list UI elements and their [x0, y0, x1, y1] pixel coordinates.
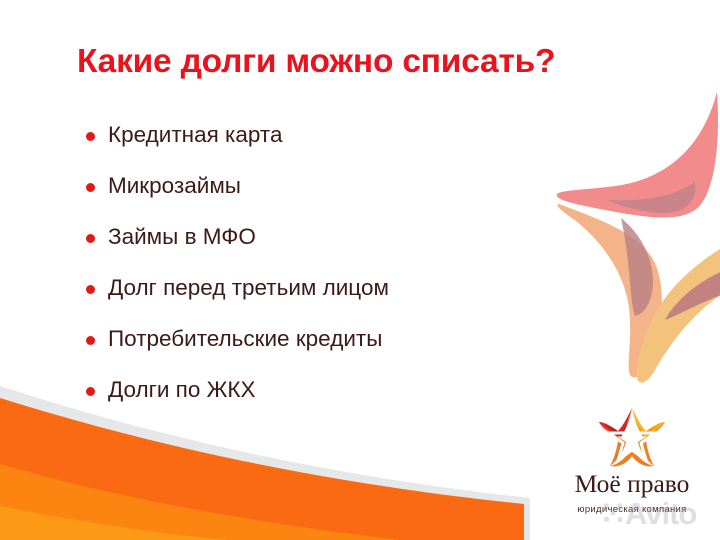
- petal-amber: [637, 246, 720, 383]
- bullet-dot-icon: [86, 336, 95, 345]
- list-item: Кредитная карта: [86, 110, 389, 161]
- wave-orange-mid: [0, 464, 400, 540]
- bullet-dot-icon: [86, 183, 95, 192]
- list-item: Долг перед третьим лицом: [86, 263, 389, 314]
- list-item: Микрозаймы: [86, 161, 389, 212]
- petal-peach-shadow: [621, 218, 653, 316]
- list-item-label: Долг перед третьим лицом: [108, 277, 389, 300]
- petal-peach: [557, 204, 661, 378]
- petal-decoration: [555, 78, 720, 388]
- list-item-label: Кредитная карта: [108, 124, 282, 147]
- petal-pink-shadow: [607, 182, 695, 213]
- logo-tagline: юридическая компания: [552, 504, 712, 515]
- list-item-label: Потребительские кредиты: [108, 328, 382, 351]
- logo-company-name: Моё право: [552, 471, 712, 497]
- list-item: Потребительские кредиты: [86, 314, 389, 365]
- list-item-label: Долги по ЖКХ: [108, 379, 256, 402]
- petal-amber-shadow: [665, 270, 720, 320]
- list-item-label: Займы в МФО: [108, 226, 256, 249]
- wave-orange-light: [0, 506, 226, 540]
- debt-list: Кредитная карта Микрозаймы Займы в МФО Д…: [86, 110, 389, 416]
- list-item: Долги по ЖКХ: [86, 365, 389, 416]
- petal-pink: [557, 92, 718, 218]
- bullet-dot-icon: [86, 285, 95, 294]
- wave-orange-dark: [0, 398, 524, 540]
- bullet-dot-icon: [86, 234, 95, 243]
- bullet-dot-icon: [86, 132, 95, 141]
- list-item-label: Микрозаймы: [108, 175, 241, 198]
- promo-slide: Какие долги можно списать? Кредитная кар…: [0, 0, 720, 540]
- list-item: Займы в МФО: [86, 212, 389, 263]
- bullet-dot-icon: [86, 387, 95, 396]
- star-icon: [552, 404, 712, 470]
- page-title: Какие долги можно списать?: [77, 44, 555, 81]
- company-logo: Моё право юридическая компания: [552, 404, 712, 515]
